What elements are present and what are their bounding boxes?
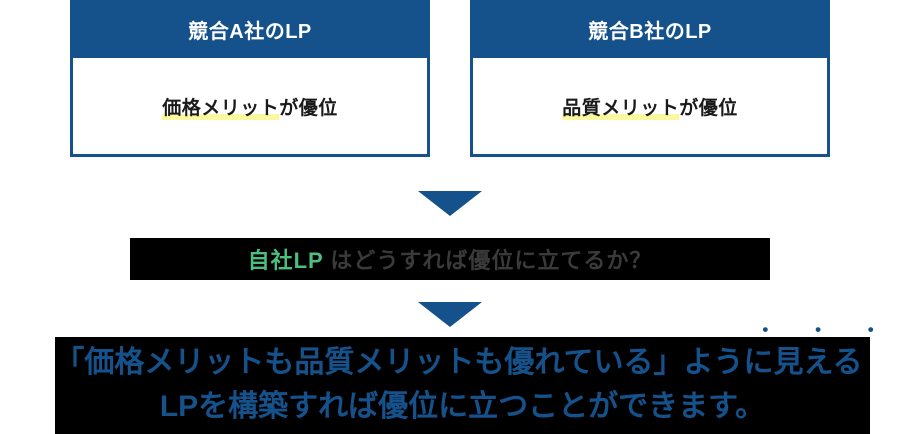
competitor-card-b-highlight: 品質メリット (562, 98, 679, 120)
competitor-card-b-header: 競合B社のLP (470, 0, 830, 58)
question-banner-text: 自社LP はどうすれば優位に立てるか？ (248, 243, 653, 275)
conclusion-line-1-emphasis: 見える (774, 346, 863, 379)
competitor-card-b-body: 品質メリットが優位 (473, 58, 827, 154)
arrow-down-icon (418, 302, 482, 327)
question-banner: 自社LP はどうすれば優位に立てるか？ (130, 238, 770, 280)
question-banner-accent: 自社LP (248, 248, 324, 273)
diagram-canvas: 競合A社のLP 価格メリットが優位 競合B社のLP 品質メリットが優位 自社LP… (0, 0, 900, 434)
conclusion-line-1-text: 「価格メリットも品質メリットも優れている」ように (54, 346, 773, 379)
competitor-card-a-suffix: が優位 (279, 98, 338, 119)
conclusion-banner: 「価格メリットも品質メリットも優れている」ように見える LPを構築すれば優位に立… (55, 337, 870, 434)
competitor-card-b-suffix: が優位 (679, 98, 738, 119)
conclusion-line-2: LPを構築すれば優位に立つことができます。 (160, 385, 765, 429)
conclusion-line-1: 「価格メリットも品質メリットも優れている」ように見える (54, 341, 862, 385)
competitor-card-a: 競合A社のLP 価格メリットが優位 (70, 0, 430, 157)
competitor-card-b: 競合B社のLP 品質メリットが優位 (470, 0, 830, 157)
competitor-card-a-body: 価格メリットが優位 (73, 58, 427, 154)
competitor-card-a-highlight: 価格メリット (162, 98, 279, 120)
competitor-card-a-header: 競合A社のLP (70, 0, 430, 58)
question-banner-rest: はどうすれば優位に立てるか？ (323, 248, 652, 273)
arrow-down-icon (418, 191, 482, 216)
competitor-card-b-body-text: 品質メリットが優位 (562, 93, 738, 120)
competitor-card-a-body-text: 価格メリットが優位 (162, 93, 338, 120)
